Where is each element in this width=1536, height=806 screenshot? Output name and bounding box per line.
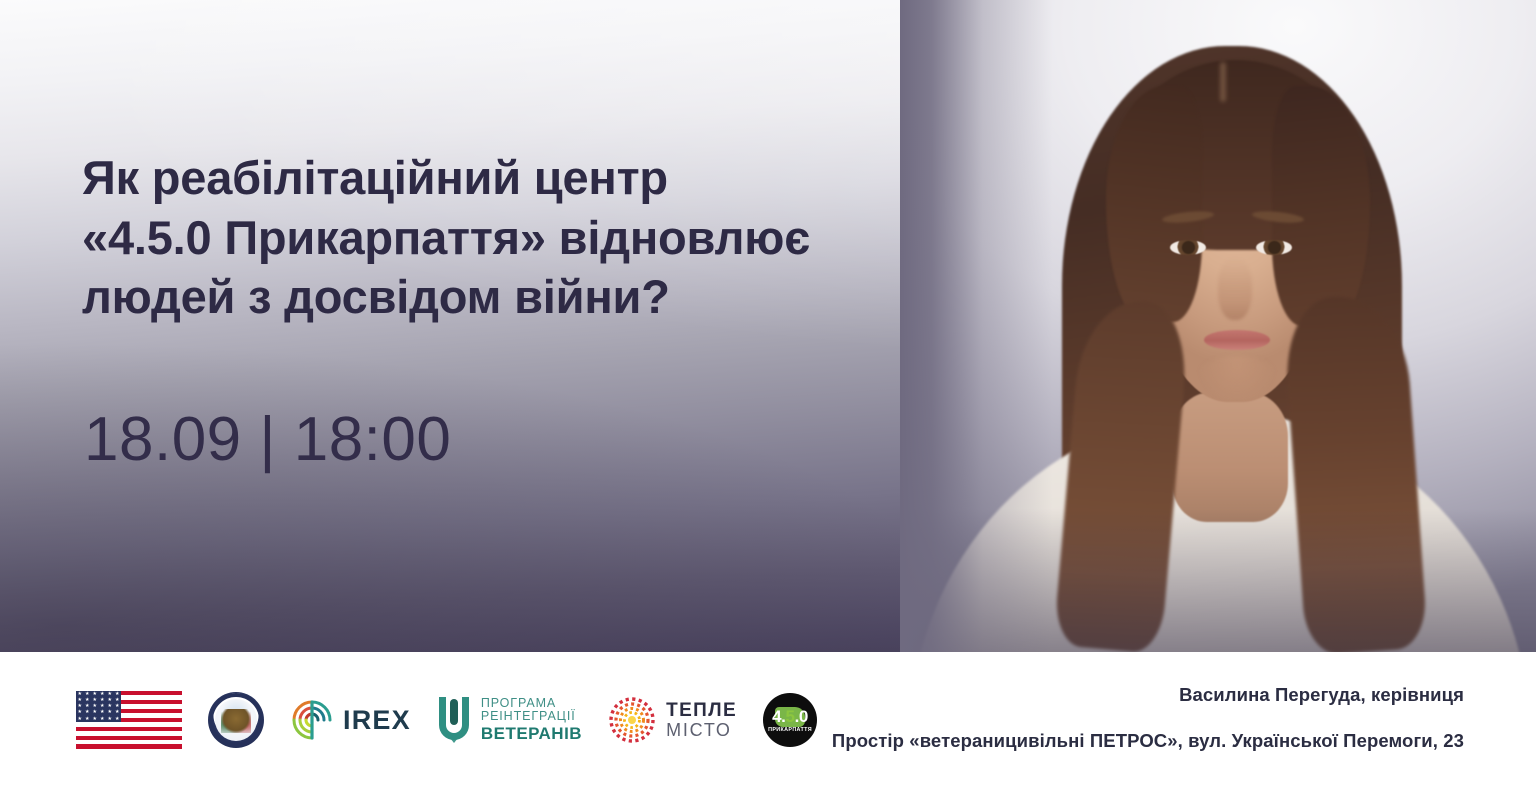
page-title: Як реабілітаційний центр «4.5.0 Прикарпа… [82, 148, 1062, 327]
portrait-lips [1204, 330, 1270, 350]
flag-canton: ★★★★★★ ★★★★★★ ★★★★★★ ★★★★★★ ★★★★★★ [76, 691, 121, 722]
veterans-program-wordmark: ПРОГРАМА РЕІНТЕГРАЦІЇ ВЕТЕРАНІВ [481, 697, 582, 743]
teple-misto-logo: ТЕПЛЕ МІСТО [608, 696, 737, 744]
portrait-hair-part [1220, 62, 1226, 102]
veterans-line-3: ВЕТЕРАНІВ [481, 725, 582, 743]
teple-misto-wordmark: ТЕПЛЕ МІСТО [666, 701, 737, 739]
speaker-name: Василина Перегуда, керівниця [832, 684, 1464, 706]
portrait-chin [1196, 356, 1278, 400]
irex-logo: IREX [290, 698, 411, 742]
veterans-line-2: РЕІНТЕГРАЦІЇ [481, 710, 582, 724]
flag-stars: ★★★★★★ ★★★★★★ ★★★★★★ ★★★★★★ ★★★★★★ [76, 691, 121, 722]
event-announcement-banner: Як реабілітаційний центр «4.5.0 Прикарпа… [0, 0, 1536, 806]
veterans-reintegration-program-logo: ПРОГРАМА РЕІНТЕГРАЦІЇ ВЕТЕРАНІВ [437, 695, 582, 745]
venue-address: Простір «ветераницивільні ПЕТРОС», вул. … [832, 730, 1464, 752]
seal-outer-ring [209, 693, 263, 747]
event-datetime: 18.09 | 18:00 [84, 404, 451, 475]
hero-section: Як реабілітаційний центр «4.5.0 Прикарпа… [0, 0, 1536, 652]
us-department-of-state-seal-icon [208, 692, 264, 748]
teple-misto-line-1: ТЕПЛЕ [666, 701, 737, 721]
teple-misto-line-2: МІСТО [666, 721, 737, 740]
portrait-pupil-left [1182, 241, 1195, 254]
partner-logo-row: ★★★★★★ ★★★★★★ ★★★★★★ ★★★★★★ ★★★★★★ [76, 685, 817, 755]
teple-misto-sun-icon [608, 696, 656, 744]
us-flag-icon: ★★★★★★ ★★★★★★ ★★★★★★ ★★★★★★ ★★★★★★ [76, 691, 182, 749]
450-number: 4.5.0 [772, 708, 808, 725]
footer-section: ★★★★★★ ★★★★★★ ★★★★★★ ★★★★★★ ★★★★★★ [0, 652, 1536, 806]
irex-arcs-icon [290, 698, 334, 742]
veterans-u-mark-icon [437, 695, 471, 745]
450-subtitle: ПРИКАРПАТТЯ [768, 727, 812, 733]
450-prykarpattia-logo: 4.5.0 ПРИКАРПАТТЯ [763, 693, 817, 747]
irex-wordmark: IREX [343, 705, 411, 736]
portrait-pupil-right [1268, 241, 1281, 254]
veterans-line-1: ПРОГРАМА [481, 697, 582, 711]
portrait-nose [1218, 258, 1252, 320]
footer-details: Василина Перегуда, керівниця Простір «ве… [832, 684, 1464, 752]
portrait-neck [1172, 392, 1288, 522]
